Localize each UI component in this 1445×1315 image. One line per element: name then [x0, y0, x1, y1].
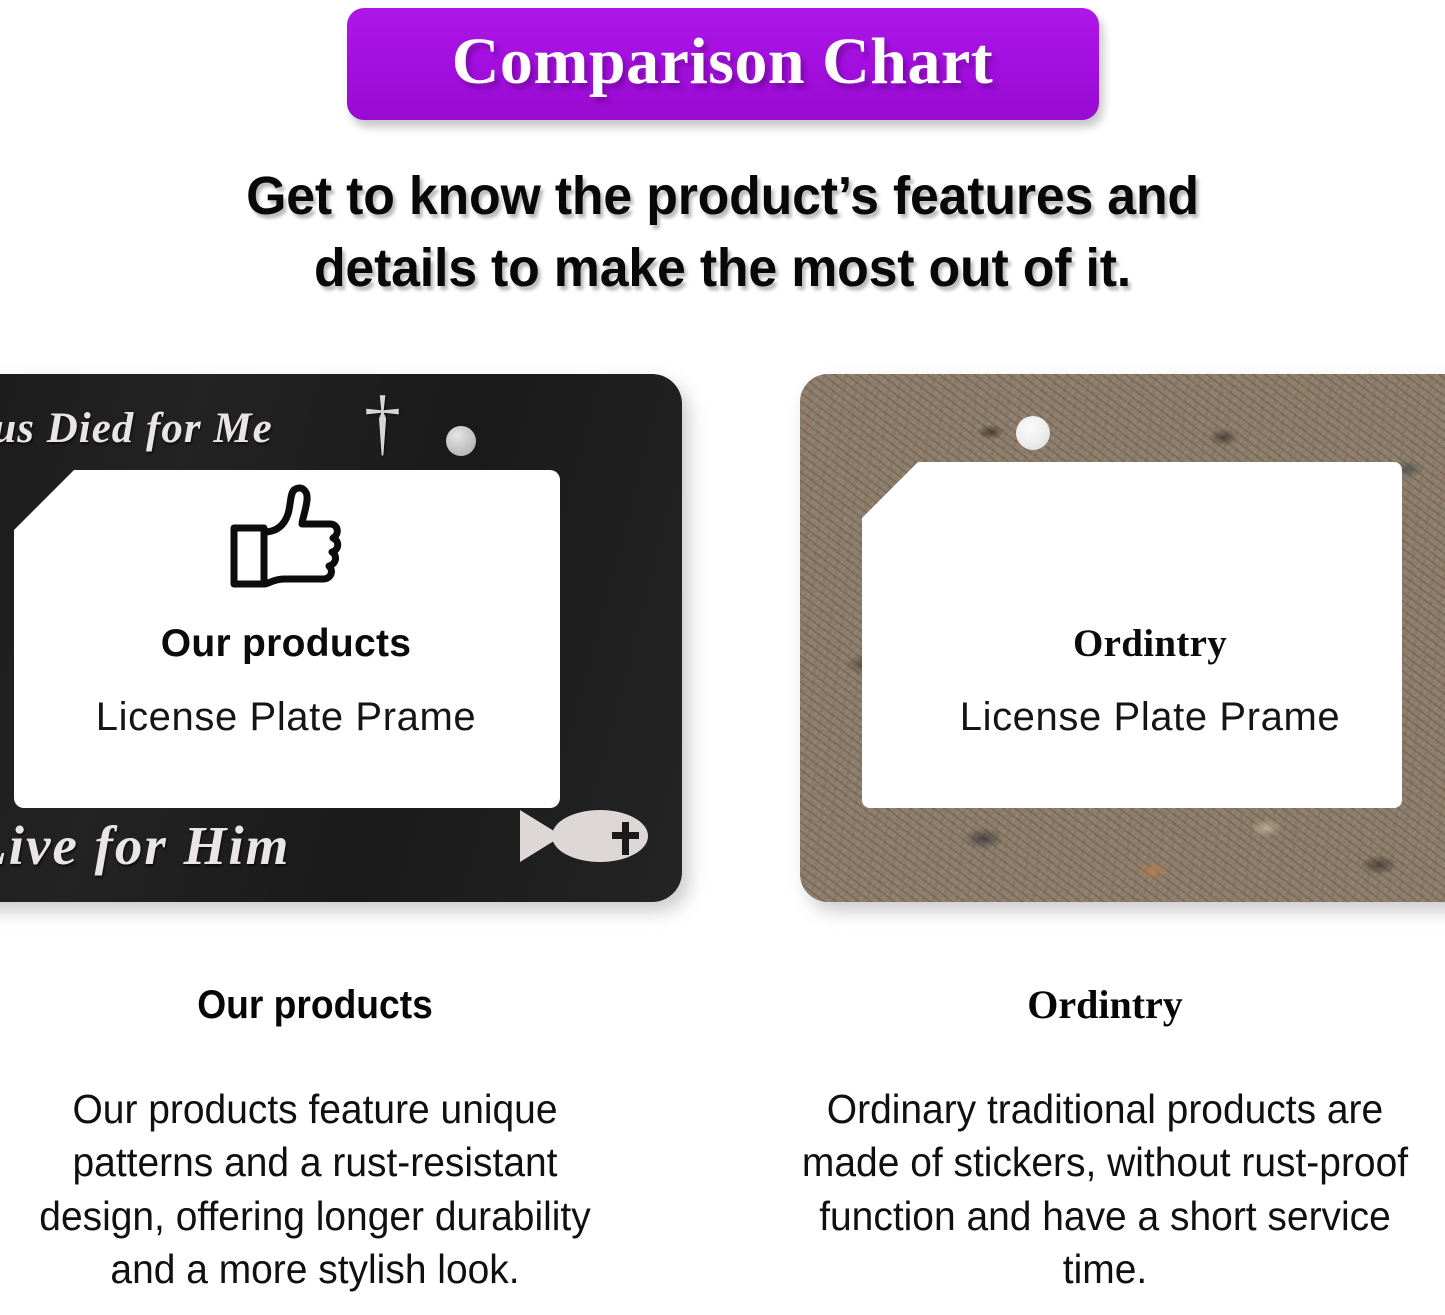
- our-product-label-block: Our products License Plate Prame: [6, 484, 566, 737]
- ichthys-fish-icon: [518, 806, 650, 866]
- ordinary-product-column-title: Ordintry: [760, 985, 1445, 1025]
- thumbs-up-icon: [228, 484, 344, 594]
- ordinary-product-heading: Ordintry: [870, 624, 1430, 663]
- plate-bottom-band: I Live for Him: [0, 802, 682, 898]
- comparison-description-section: Our products Our products feature unique…: [0, 985, 1445, 1315]
- our-product-heading: Our products: [6, 624, 566, 663]
- screw-hole-icon: [446, 426, 476, 456]
- plate-top-band: Jesus Died for Me †: [0, 380, 682, 468]
- ordinary-product-column-body: Ordinary traditional products are made o…: [777, 1083, 1433, 1296]
- our-product-column-body: Our products feature unique patterns and…: [0, 1083, 643, 1296]
- plate-bottom-text: I Live for Him: [0, 814, 290, 877]
- ordinary-product-label-block: Ordintry License Plate Prame: [870, 484, 1430, 737]
- our-product-description-column: Our products Our products feature unique…: [0, 985, 660, 1296]
- screw-hole-icon: [1016, 416, 1050, 450]
- ordinary-product-description-column: Ordintry Ordinary traditional products a…: [760, 985, 1445, 1296]
- thumbs-down-icon: [1092, 484, 1208, 594]
- ordinary-product-subheading: License Plate Prame: [870, 697, 1430, 737]
- our-product-subheading: License Plate Prame: [6, 697, 566, 737]
- cross-icon: †: [364, 386, 401, 460]
- our-product-column-title: Our products: [0, 985, 636, 1025]
- plate-top-text: Jesus Died for Me: [0, 404, 273, 453]
